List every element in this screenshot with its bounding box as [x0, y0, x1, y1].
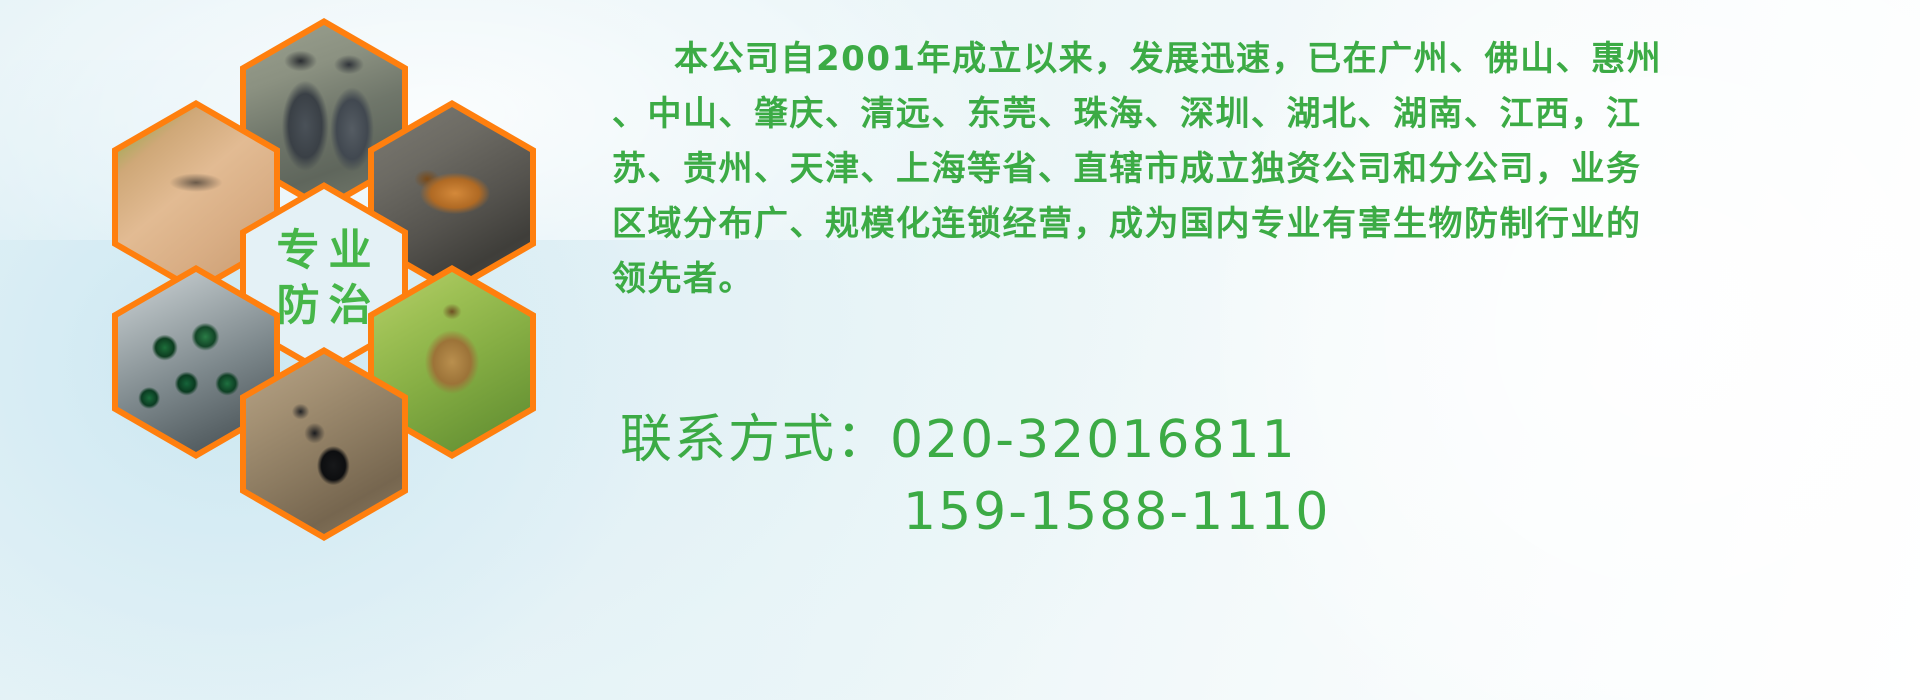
contact-phone-secondary[interactable]: 159-1588-1110	[620, 476, 1820, 548]
hex-badge-line2: 防治	[268, 279, 381, 334]
company-description-line-5: 领先者。	[612, 252, 1872, 307]
company-description-line-1: 本公司自2001年成立以来，发展迅速，已在广州、佛山、惠州	[612, 32, 1872, 87]
company-description-line-2: 、中山、肇庆、清远、东莞、珠海、深圳、湖北、湖南、江西，江	[612, 87, 1872, 142]
promo-banner: 专业 防治 本公司自2001年成立以来，发展迅速，已在广州、佛山、惠州 、中山、…	[0, 0, 1920, 700]
hex-photo-ant-frame	[246, 354, 402, 534]
contact-phone-primary[interactable]: 020-32016811	[890, 410, 1297, 470]
contact-primary-line: 联系方式：020-32016811	[620, 404, 1820, 476]
ant-photo	[246, 354, 402, 534]
company-description-line-3: 苏、贵州、天津、上海等省、直辖市成立独资公司和分公司，业务	[612, 142, 1872, 197]
hexagon-photo-cluster: 专业 防治	[90, 10, 590, 570]
hex-badge-line1: 专业	[268, 224, 381, 279]
contact-label: 联系方式：	[620, 410, 890, 470]
contact-info: 联系方式：020-32016811 159-1588-1110	[620, 404, 1820, 548]
company-description-line-4: 区域分布广、规模化连锁经营，成为国内专业有害生物防制行业的	[612, 197, 1872, 252]
company-description: 本公司自2001年成立以来，发展迅速，已在广州、佛山、惠州 、中山、肇庆、清远、…	[612, 32, 1872, 307]
